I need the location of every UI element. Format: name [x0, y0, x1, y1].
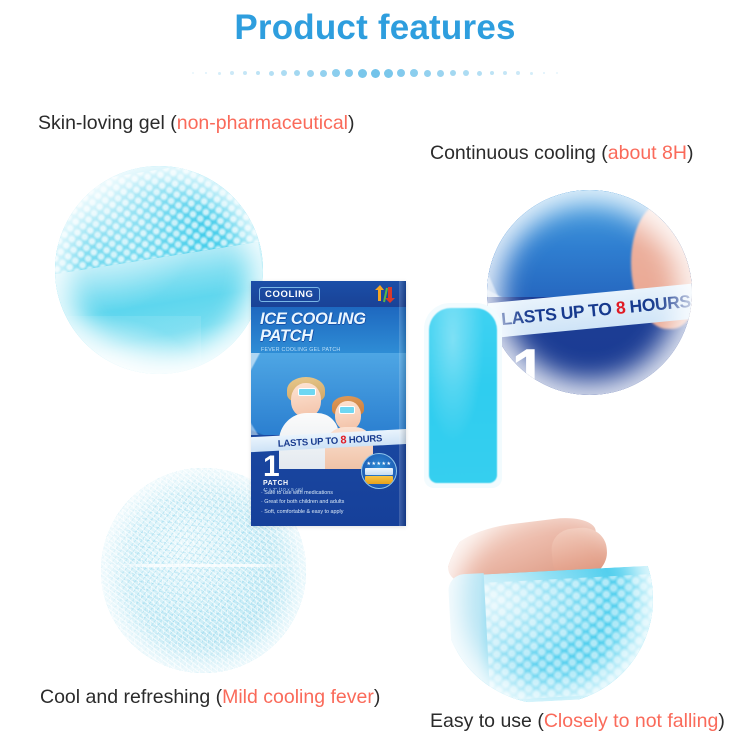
caption-easy-to-use: Easy to use (Closely to not falling): [430, 710, 725, 733]
divider-dot: [294, 70, 300, 76]
caption-cool-and-refreshing: Cool and refreshing (Mild cooling fever): [40, 686, 380, 709]
caption-accent-text: Mild cooling fever: [222, 686, 374, 708]
band-suffix: HOURS: [624, 290, 691, 316]
box-bullet-item: · Safe to use with medications: [261, 489, 385, 498]
caption-close-paren: ): [687, 142, 694, 164]
seal-bar: [365, 468, 393, 475]
gel-patch-side-edge: [448, 573, 490, 701]
band-prefix: LASTS UP TO: [500, 298, 617, 329]
gel-highlight: [55, 316, 201, 374]
product-box-package: COOLING ICE COOLING PATCH FEVER COOLING …: [251, 281, 406, 526]
divider-dot: [256, 71, 260, 75]
header: Product features: [0, 0, 750, 95]
divider-dot: [397, 69, 405, 77]
box-patch-count-label: PATCH: [263, 480, 304, 487]
divider-dot: [490, 71, 494, 75]
divider-dot: [269, 71, 274, 76]
divider-dot: [516, 71, 520, 75]
divider-dot: [503, 71, 507, 75]
divider-dot: [450, 70, 456, 76]
divider-dot: [243, 71, 247, 75]
dot-divider: [0, 62, 750, 84]
divider-dot: [307, 70, 314, 77]
box-product-title: ICE COOLING PATCH: [260, 311, 400, 345]
caption-main-text: Cool and refreshing: [40, 686, 216, 708]
page-title: Product features: [0, 8, 750, 48]
box-feature-bullets: · Safe to use with medications · Great f…: [261, 489, 385, 517]
divider-dot: [477, 71, 482, 76]
box-lasts-suffix: HOURS: [346, 433, 382, 446]
caption-accent-text: about 8H: [608, 142, 687, 164]
box-patch-count-number: 1: [263, 453, 304, 480]
caption-continuous-cooling: Continuous cooling (about 8H): [430, 142, 693, 165]
divider-dot: [281, 70, 287, 76]
divider-dot: [332, 69, 340, 77]
cooling-tag-label: COOLING: [259, 287, 320, 302]
caption-close-paren: ): [718, 710, 725, 732]
divider-dot: [424, 70, 431, 77]
caption-accent-text: Closely to not falling: [544, 710, 719, 732]
mother-forehead-patch: [298, 388, 316, 396]
caption-close-paren: ): [348, 112, 355, 134]
divider-dot: [218, 72, 221, 75]
gel-patch-honeycomb-texture: [478, 573, 653, 701]
seal-bottom-bar: [365, 476, 393, 484]
caption-close-paren: ): [374, 686, 381, 708]
patch-count-number: 1: [512, 341, 546, 395]
quality-seal-badge: ★★★★★: [361, 453, 397, 489]
divider-dot: [556, 72, 558, 74]
divider-dot: [384, 69, 393, 78]
caption-main-text: Easy to use: [430, 710, 537, 732]
box-lasts-prefix: LASTS UP TO: [278, 435, 341, 449]
child-forehead-patch: [339, 406, 355, 414]
seal-stars: ★★★★★: [362, 461, 396, 467]
divider-dot: [371, 69, 380, 78]
standalone-gel-patch: [424, 303, 502, 488]
fabric-seam: [101, 564, 306, 567]
box-right-edge: [399, 281, 406, 526]
box-bullet-item: · Soft, comfortable & easy to apply: [261, 508, 385, 517]
box-title-line2: PATCH: [260, 328, 400, 345]
divider-dot: [230, 71, 234, 75]
caption-main-text: Continuous cooling: [430, 142, 601, 164]
feature-image-gel-closeup: [55, 166, 263, 374]
gel-patch-fill: [429, 308, 497, 483]
caption-accent-text: non-pharmaceutical: [177, 112, 348, 134]
divider-dot: [437, 70, 444, 77]
divider-dot: [543, 72, 545, 74]
brand-arrow-icon: [374, 285, 396, 303]
divider-dot: [320, 70, 327, 77]
box-bullet-item: · Great for both children and adults: [261, 498, 385, 507]
divider-dot: [358, 69, 367, 78]
box-patch-count-block: 1 PATCH 4" x 2" (10 x 5 cm): [263, 453, 304, 492]
divider-dot: [205, 72, 207, 74]
divider-dot: [192, 72, 194, 74]
caption-main-text: Skin-loving gel: [38, 112, 170, 134]
divider-dot: [345, 69, 353, 77]
box-title-line1: ICE COOLING: [260, 311, 400, 328]
divider-dot: [530, 72, 533, 75]
divider-dot: [463, 70, 469, 76]
feature-image-duration-closeup: LASTS UP TO 8 HOURS 1: [487, 190, 692, 395]
divider-dot: [410, 69, 418, 77]
caption-skin-loving-gel: Skin-loving gel (non-pharmaceutical): [38, 112, 355, 135]
feature-image-easy-use-closeup: [443, 494, 653, 704]
